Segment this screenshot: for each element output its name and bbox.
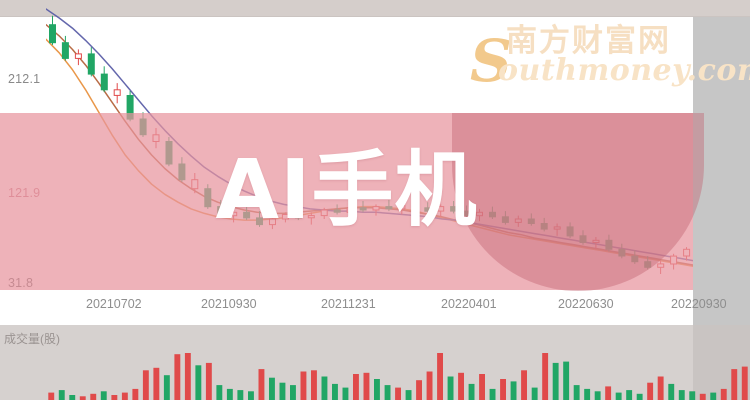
chart-screenshot: 212.1 121.9 31.8 AI手机 S 南方财富网 outhmoney.… <box>0 0 750 400</box>
x-axis-tick-5: 20220930 <box>671 297 727 311</box>
overlay-title-text: AI手机 <box>216 143 478 238</box>
x-axis-tick-4: 20220630 <box>558 297 614 311</box>
y-axis-label-high: 212.1 <box>8 72 40 86</box>
x-axis-tick-2: 20211231 <box>321 297 376 311</box>
volume-svg <box>46 352 750 400</box>
watermark-logo: S 南方财富网 outhmoney.com <box>470 18 692 90</box>
watermark-en-name: outhmoney.com <box>498 56 750 86</box>
overlay-title: AI手机 <box>0 150 693 232</box>
volume-plot[interactable] <box>46 352 750 400</box>
x-axis-tick-3: 20220401 <box>441 297 497 311</box>
x-axis-tick-1: 20210930 <box>201 297 257 311</box>
x-axis-tick-0: 20210702 <box>86 297 142 311</box>
x-axis-date-labels: 2021070220210930202112312022040120220630… <box>0 297 750 317</box>
volume-axis-title: 成交量(股) <box>4 330 60 347</box>
